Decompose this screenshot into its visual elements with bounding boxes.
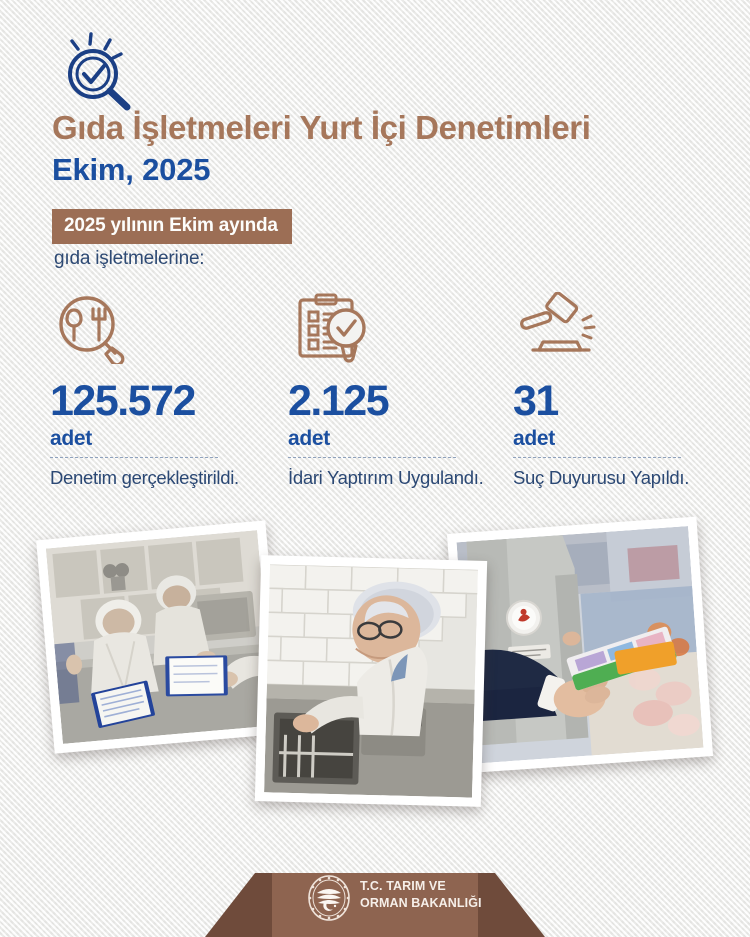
stat-card-denetim: 125.572 adet Denetim gerçekleştirildi. — [50, 292, 260, 489]
stat-card-idari-yaptirim: 2.125 adet İdari Yaptırım Uygulandı. — [288, 292, 498, 489]
stat-unit: adet — [513, 427, 723, 450]
stat-unit: adet — [50, 427, 260, 450]
badge-subtext: gıda işletmelerine: — [54, 248, 204, 270]
stat-description: Suç Duyurusu Yapıldı. — [513, 466, 723, 489]
stats-row: 125.572 adet Denetim gerçekleştirildi. — [50, 292, 710, 512]
stat-description: İdari Yaptırım Uygulandı. — [288, 466, 498, 489]
ministry-name-line2: ORMAN BAKANLIĞI — [360, 895, 482, 912]
stat-divider — [288, 457, 456, 458]
infographic-page: Gıda İşletmeleri Yurt İçi Denetimleri Ek… — [0, 0, 750, 937]
page-subtitle: Ekim, 2025 — [52, 152, 210, 188]
photo-inspector-product-market — [447, 517, 713, 774]
magnifier-cutlery-icon — [50, 292, 260, 364]
stat-divider — [50, 457, 218, 458]
photo-inspector-fryer — [255, 555, 487, 807]
ministry-emblem-icon — [305, 873, 353, 923]
stat-number: 125.572 — [50, 380, 260, 423]
period-badge: 2025 yılının Ekim ayında — [52, 209, 292, 244]
magnifier-check-icon — [55, 26, 151, 114]
photo-gallery — [0, 520, 750, 820]
photo-inspectors-clipboard-kitchen — [36, 520, 284, 753]
stat-unit: adet — [288, 427, 498, 450]
stat-number: 2.125 — [288, 380, 498, 423]
ministry-name: T.C. TARIM VE ORMAN BAKANLIĞI — [360, 878, 482, 912]
stat-card-suc-duyurusu: 31 adet Suç Duyurusu Yapıldı. — [513, 292, 723, 489]
stat-description: Denetim gerçekleştirildi. — [50, 466, 260, 489]
page-title: Gıda İşletmeleri Yurt İçi Denetimleri — [52, 110, 742, 146]
footer-ribbon: T.C. TARIM VE ORMAN BAKANLIĞI — [0, 857, 750, 937]
ministry-name-line1: T.C. TARIM VE — [360, 878, 482, 895]
clipboard-check-magnifier-icon — [288, 292, 498, 364]
stat-number: 31 — [513, 380, 723, 423]
stat-divider — [513, 457, 681, 458]
gavel-icon — [513, 292, 723, 364]
